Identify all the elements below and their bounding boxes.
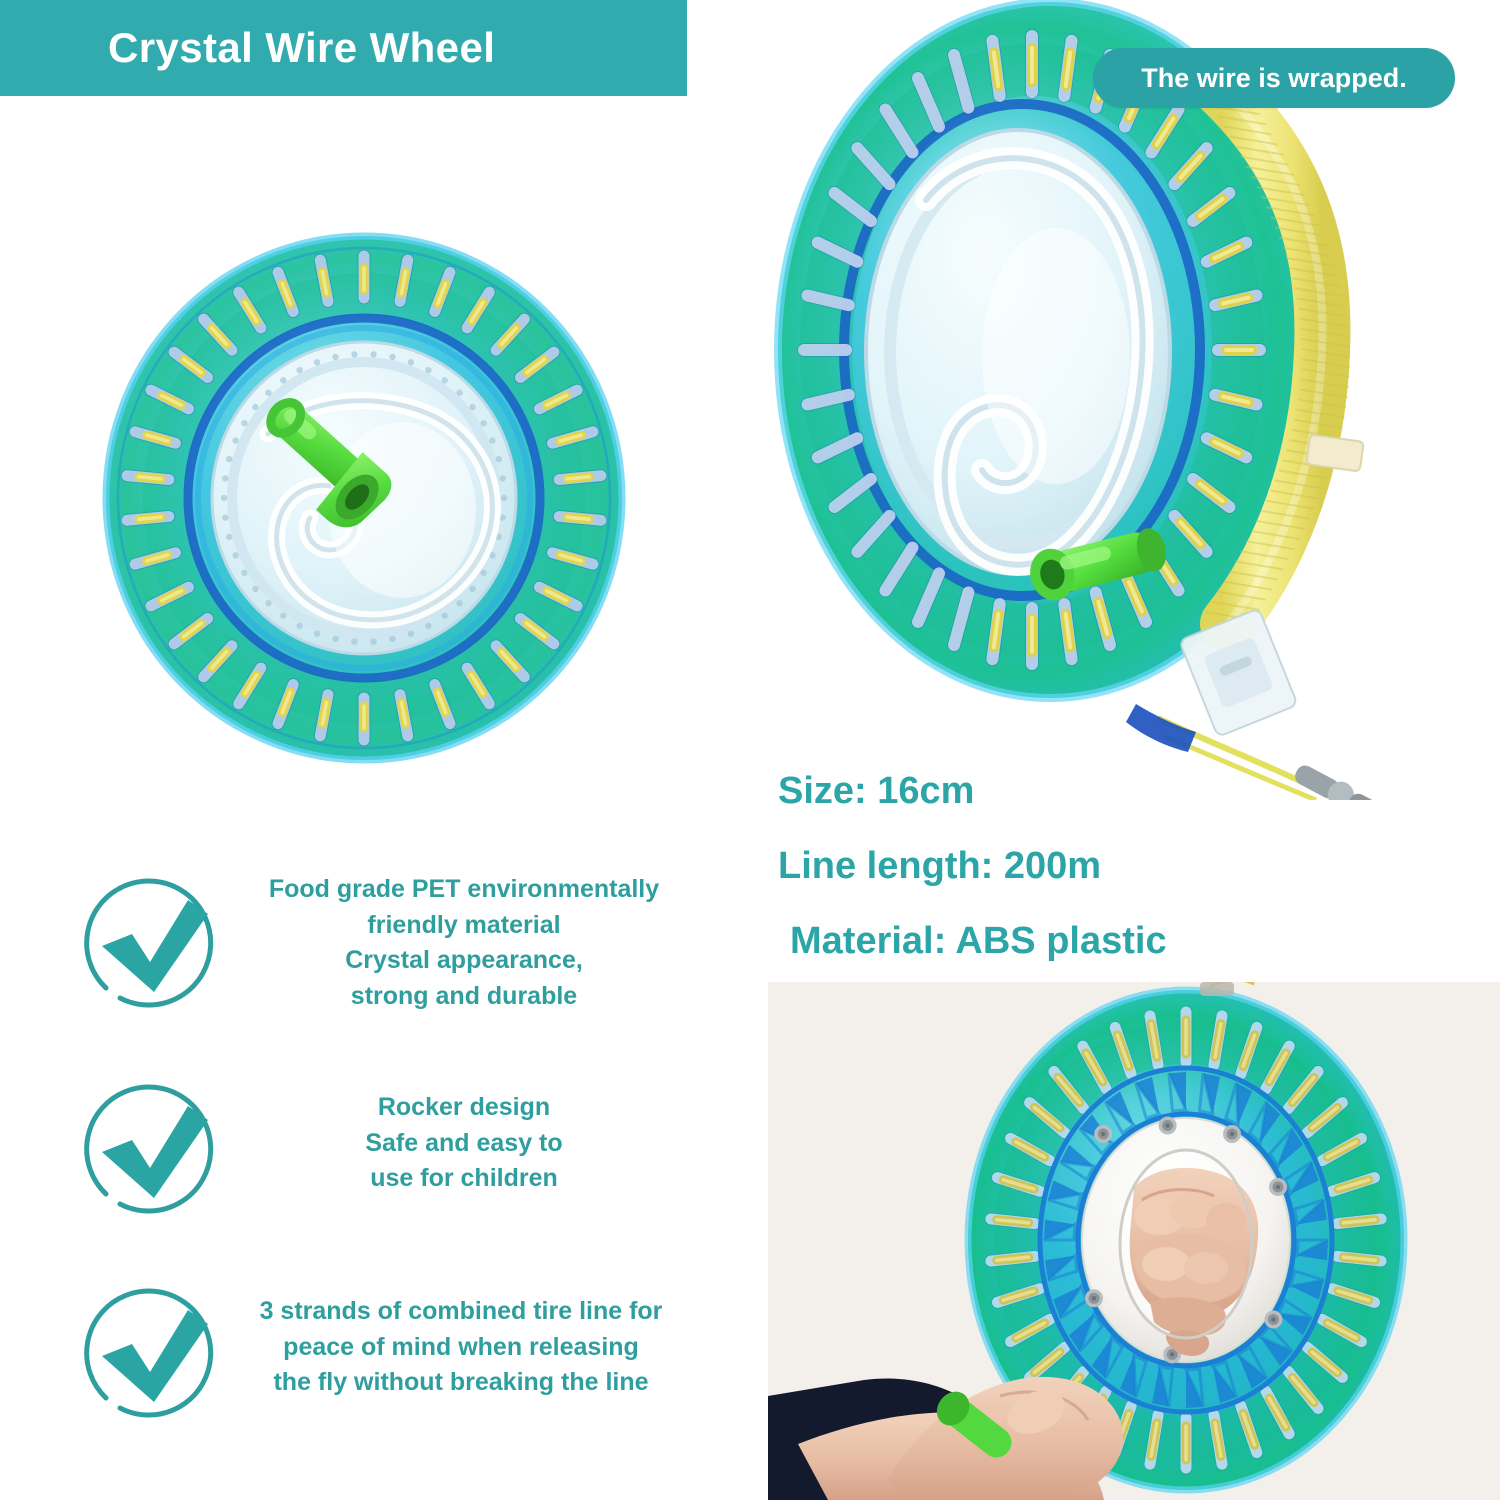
feature-line: Rocker design <box>234 1090 694 1126</box>
feature-line: 3 strands of combined tire line for <box>228 1294 694 1330</box>
wire-wrapped-badge-label: The wire is wrapped. <box>1141 63 1407 94</box>
spec-line-length: Line length: 200m <box>778 847 1398 885</box>
spec-size: Size: 16cm <box>778 772 1398 810</box>
feature-line: Safe and easy to <box>234 1126 694 1162</box>
spec-material: Material: ABS plastic <box>790 922 1398 960</box>
check-circle-icon <box>84 1286 224 1426</box>
feature-line: peace of mind when releasing <box>228 1330 694 1366</box>
feature-text-material: Food grade PET environmentally friendly … <box>234 868 694 1014</box>
feature-line: Food grade PET environmentally <box>234 872 694 908</box>
feature-text-rocker: Rocker design Safe and easy to use for c… <box>234 1060 694 1197</box>
check-circle-icon <box>84 876 224 1016</box>
kite-reel-front-view-photo <box>72 198 672 798</box>
infographic-canvas: Crystal Wire Wheel The wire is wrapped. … <box>0 0 1500 1500</box>
check-circle-icon <box>84 1082 224 1222</box>
feature-list: Food grade PET environmentally friendly … <box>84 868 694 1450</box>
kite-reel-angled-wound-photo <box>760 0 1380 800</box>
kite-reel-in-hand-photo <box>768 982 1500 1500</box>
feature-item-material: Food grade PET environmentally friendly … <box>84 868 694 1060</box>
feature-item-rocker: Rocker design Safe and easy to use for c… <box>84 1060 694 1260</box>
feature-text-strands: 3 strands of combined tire line for peac… <box>228 1260 694 1401</box>
feature-line: Crystal appearance, <box>234 943 694 979</box>
feature-item-strands: 3 strands of combined tire line for peac… <box>84 1260 694 1450</box>
feature-line: strong and durable <box>234 979 694 1015</box>
page-title: Crystal Wire Wheel <box>108 27 495 69</box>
feature-line: friendly material <box>234 908 694 944</box>
spec-list: Size: 16cm Line length: 200m Material: A… <box>778 772 1398 997</box>
feature-line: use for children <box>234 1161 694 1197</box>
wire-wrapped-badge: The wire is wrapped. <box>1093 48 1455 108</box>
title-banner: Crystal Wire Wheel <box>0 0 687 96</box>
feature-line: the fly without breaking the line <box>228 1365 694 1401</box>
